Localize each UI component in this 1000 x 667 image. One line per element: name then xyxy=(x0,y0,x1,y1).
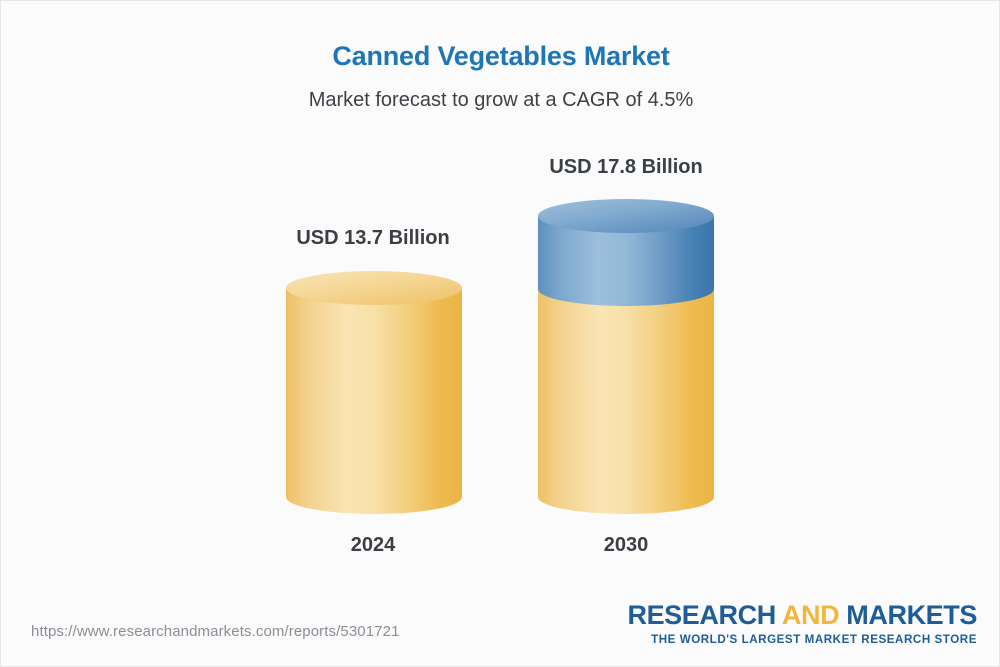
cylinder-segment-gold-2030 xyxy=(538,289,714,514)
bar-category-label-2024: 2024 xyxy=(243,534,503,557)
bar-category-label-2030: 2030 xyxy=(496,534,756,557)
chart-canvas: Canned Vegetables Market Market forecast… xyxy=(0,0,1000,667)
brand-logo-wordmark: RESEARCH AND MARKETS xyxy=(627,601,977,630)
chart-plot-area: USD 13.7 Billion xyxy=(1,1,1000,601)
cylinder-top-2030 xyxy=(538,199,714,233)
brand-word-markets: MARKETS xyxy=(839,600,977,630)
cylinder-body-2024 xyxy=(286,288,462,514)
brand-word-and: AND xyxy=(782,600,839,630)
bar-value-label-2030: USD 17.8 Billion xyxy=(496,156,756,179)
brand-word-research: RESEARCH xyxy=(627,600,781,630)
brand-tagline: THE WORLD'S LARGEST MARKET RESEARCH STOR… xyxy=(627,633,977,646)
cylinder-2024 xyxy=(284,271,464,519)
cylinder-top-2024 xyxy=(286,271,462,305)
cylinder-2030 xyxy=(536,199,716,519)
bar-value-label-2024: USD 13.7 Billion xyxy=(243,227,503,250)
brand-logo: RESEARCH AND MARKETS THE WORLD'S LARGEST… xyxy=(627,601,977,646)
source-url[interactable]: https://www.researchandmarkets.com/repor… xyxy=(31,623,400,640)
